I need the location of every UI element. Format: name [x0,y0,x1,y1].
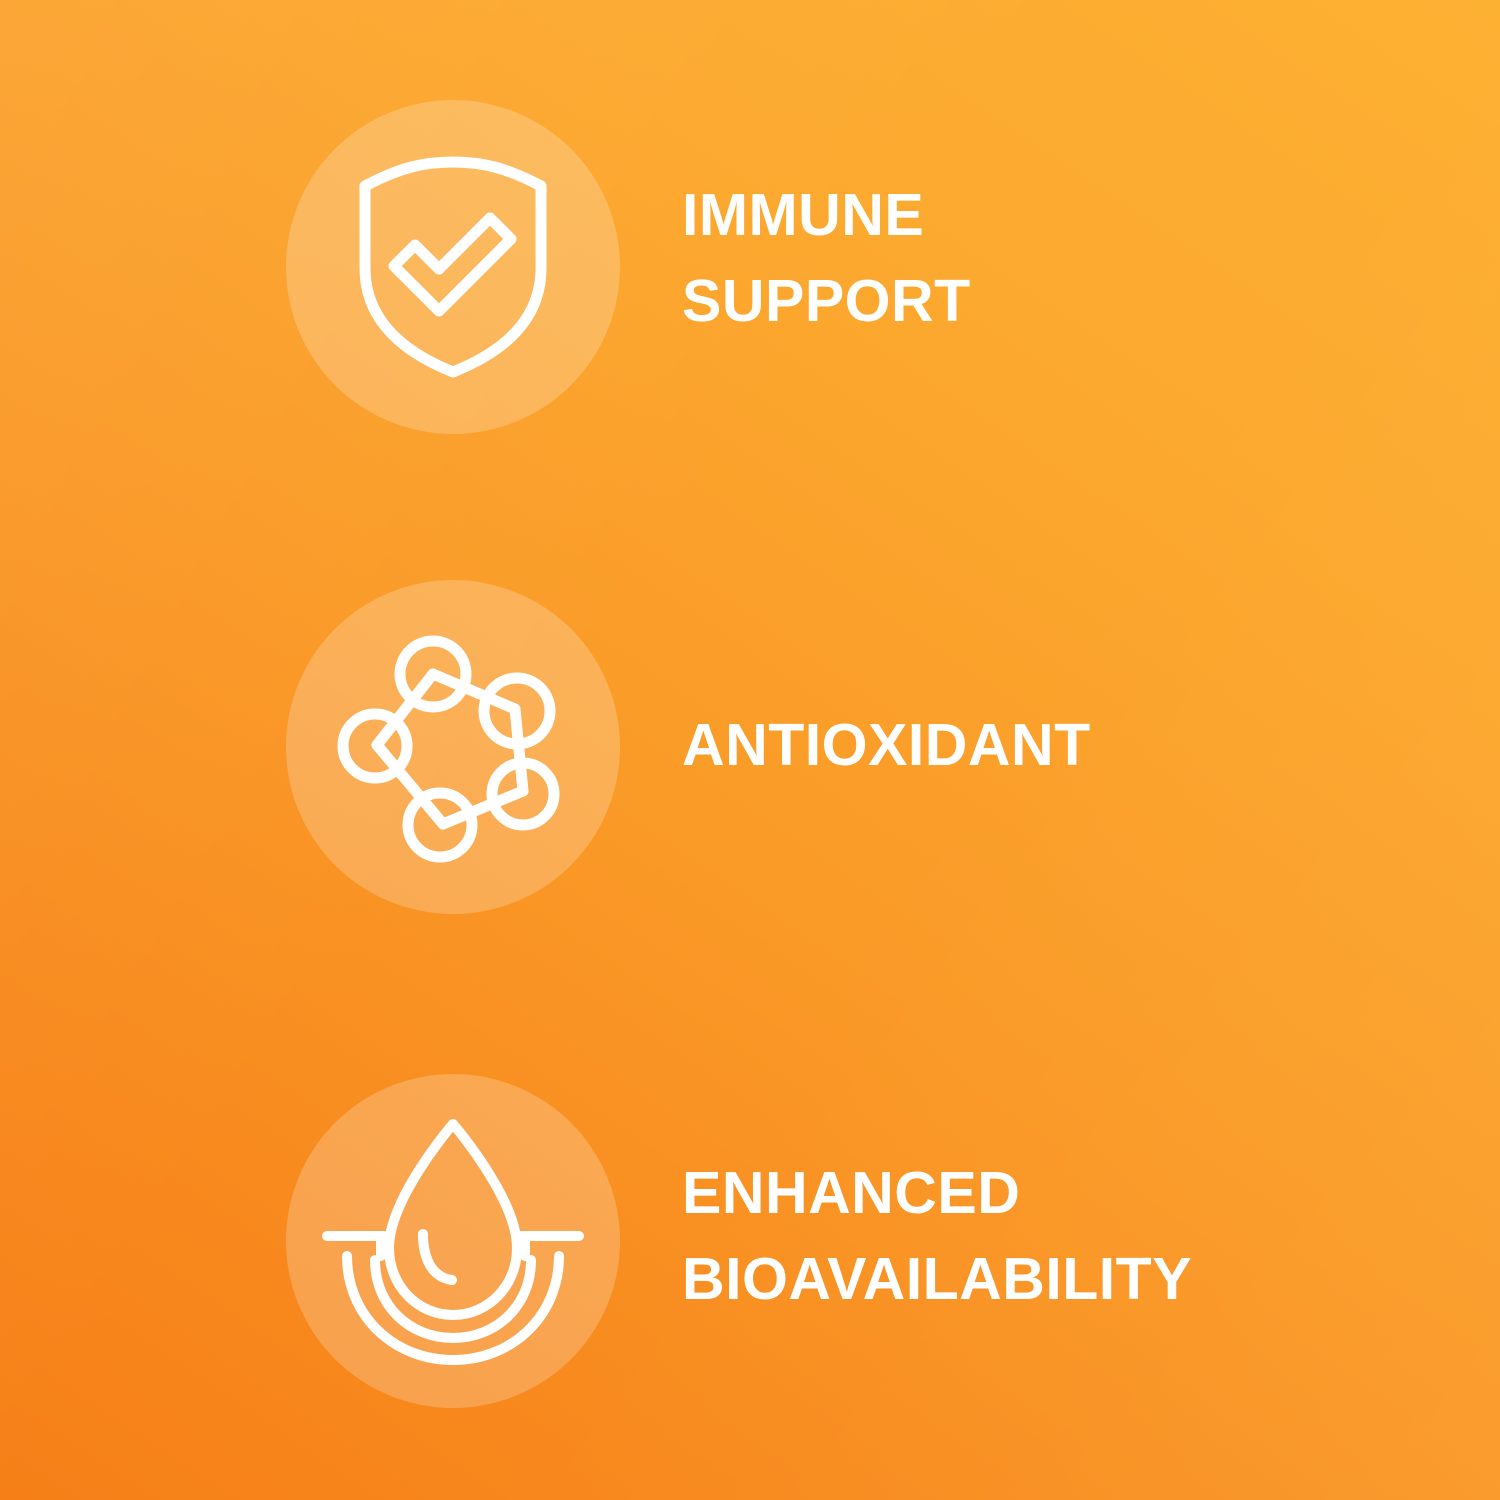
benefits-infographic: IMMUNE SUPPORT [0,0,1500,1500]
icon-disc-antioxidant [286,580,620,914]
benefit-label-enhanced-bioavailability: ENHANCED BIOAVAILABILITY [682,1150,1192,1322]
shield-check-icon [353,156,553,378]
water-droplet-ripple-icon [319,1116,587,1366]
benefit-row-immune-support: IMMUNE SUPPORT [0,100,1500,440]
benefit-label-antioxidant: ANTIOXIDANT [682,702,1091,788]
molecule-icon [337,631,569,863]
benefit-label-immune-support: IMMUNE SUPPORT [682,172,971,344]
icon-disc-immune-support [286,100,620,434]
benefit-row-antioxidant: ANTIOXIDANT [0,580,1500,920]
icon-disc-enhanced-bioavailability [286,1074,620,1408]
benefit-row-enhanced-bioavailability: ENHANCED BIOAVAILABILITY [0,1074,1500,1414]
